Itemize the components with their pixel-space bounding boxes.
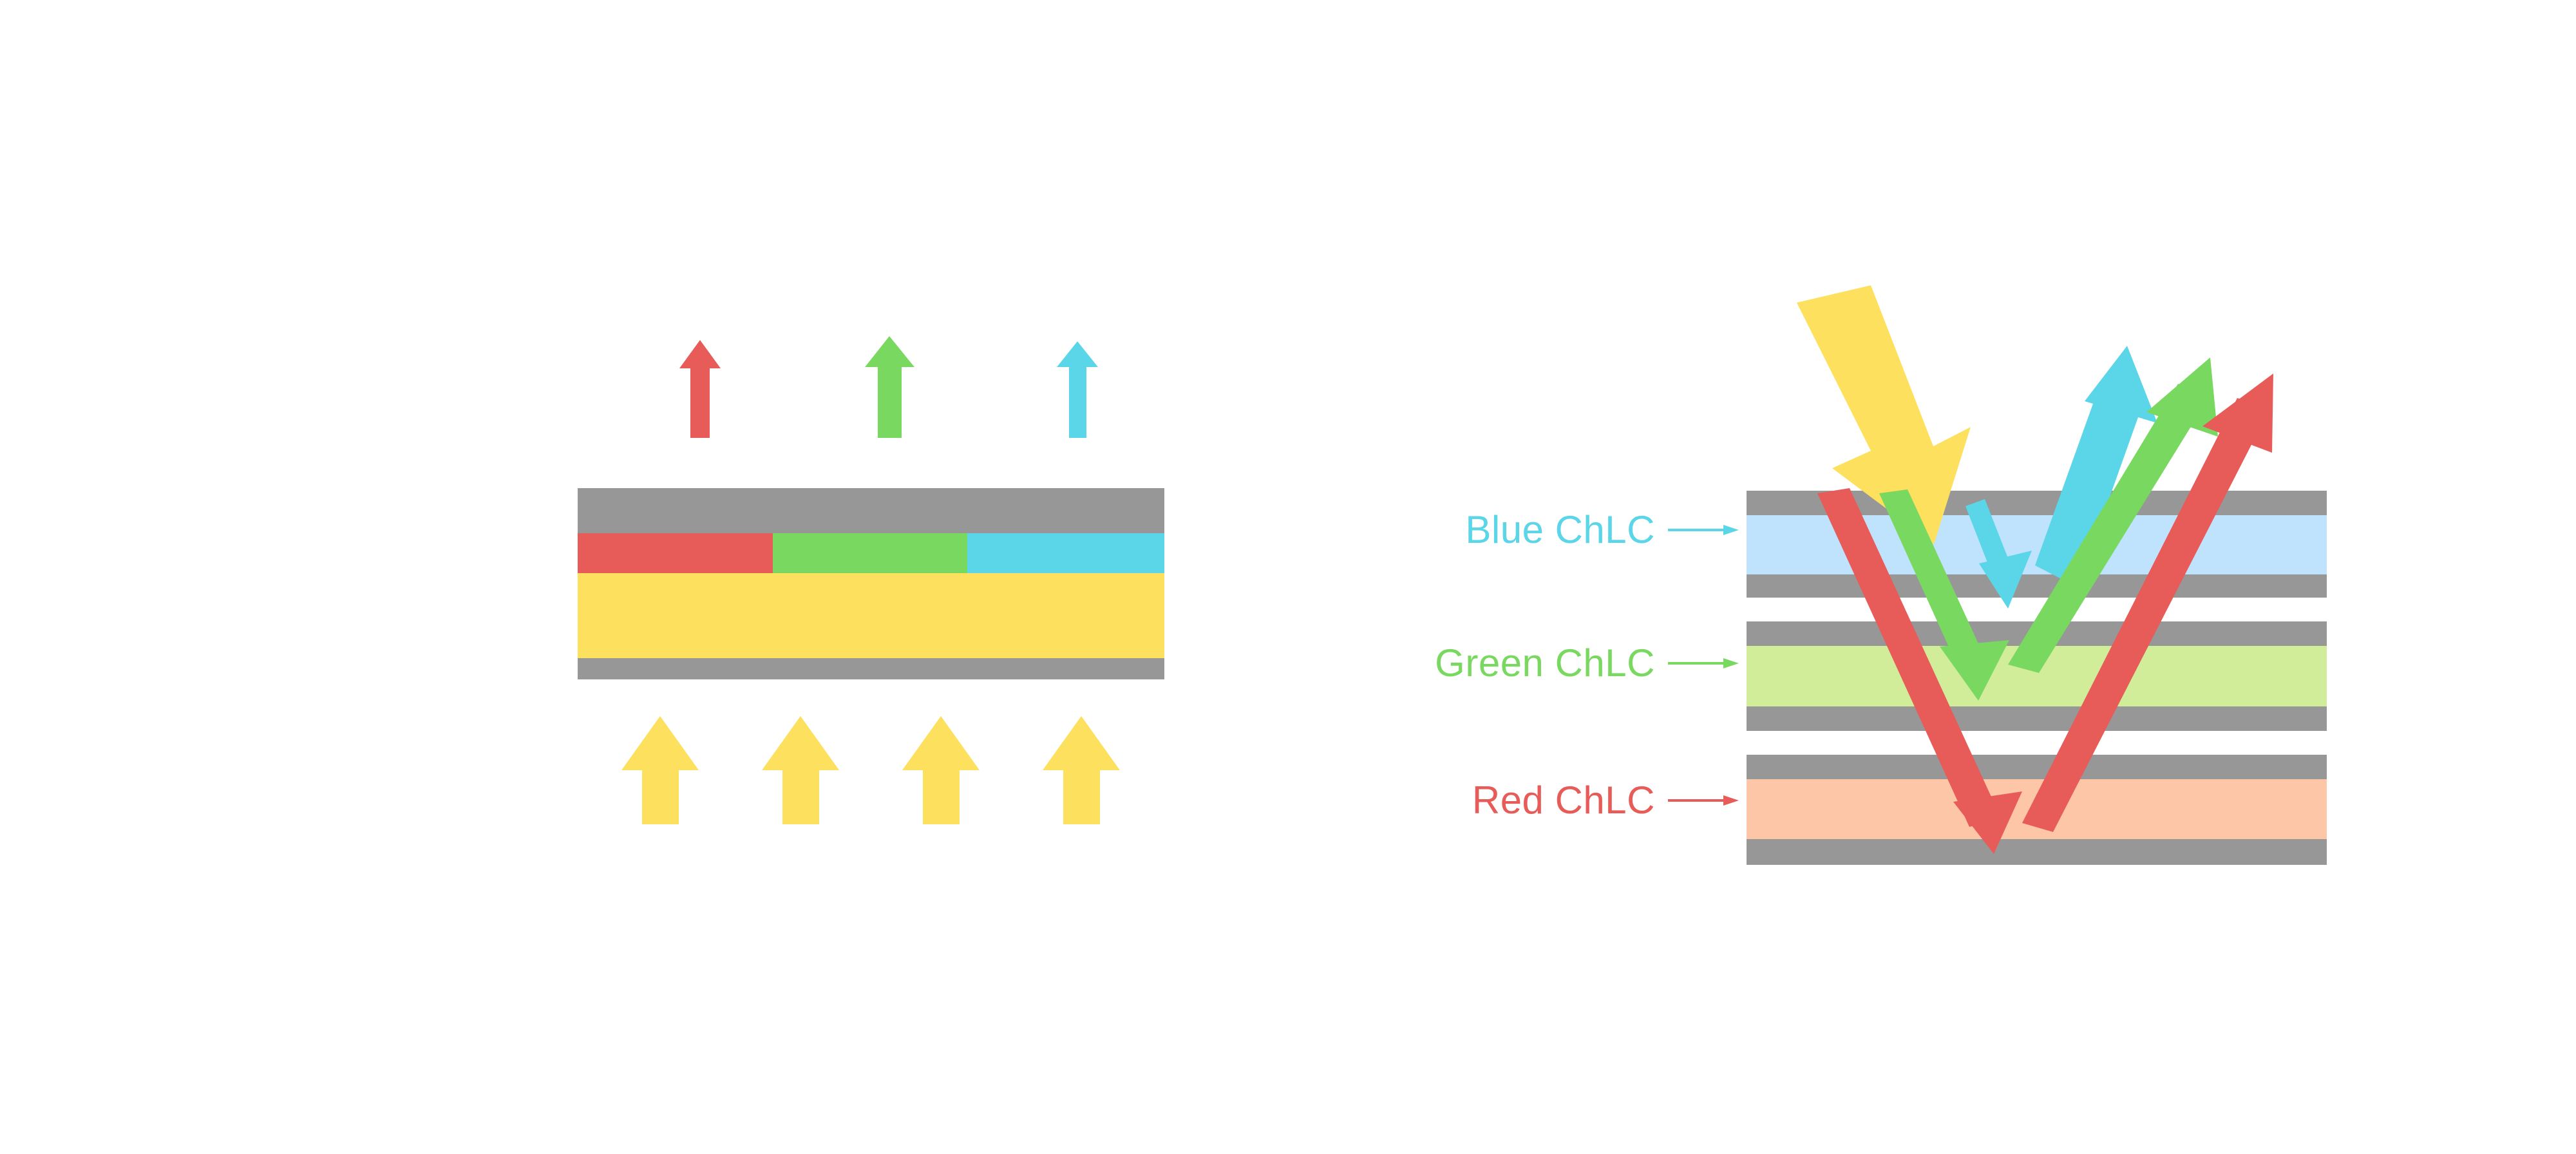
blue-pointer-arrow-right-icon <box>1668 517 1739 543</box>
right-panel-graphics <box>0 0 2576 1154</box>
blue-cell-bottom-electrode <box>1747 574 2327 598</box>
red-cell-top-electrode <box>1747 755 2327 779</box>
label-green-chlc-text: Green ChLC <box>1435 644 1655 683</box>
diagram-canvas: Blue ChLC Green ChLC Red ChLC <box>0 0 2576 1154</box>
green-pointer-arrow-right-icon <box>1668 650 1739 676</box>
label-blue-chlc-text: Blue ChLC <box>1465 511 1655 549</box>
label-green-chlc: Green ChLC <box>1391 644 1739 683</box>
red-pointer-arrow-right-icon <box>1668 788 1739 813</box>
green-cell-bottom-electrode <box>1747 706 2327 731</box>
label-blue-chlc: Blue ChLC <box>1453 511 1739 549</box>
label-red-chlc-text: Red ChLC <box>1472 781 1655 820</box>
label-red-chlc: Red ChLC <box>1443 781 1739 820</box>
red-cell-bottom-electrode <box>1747 839 2327 865</box>
